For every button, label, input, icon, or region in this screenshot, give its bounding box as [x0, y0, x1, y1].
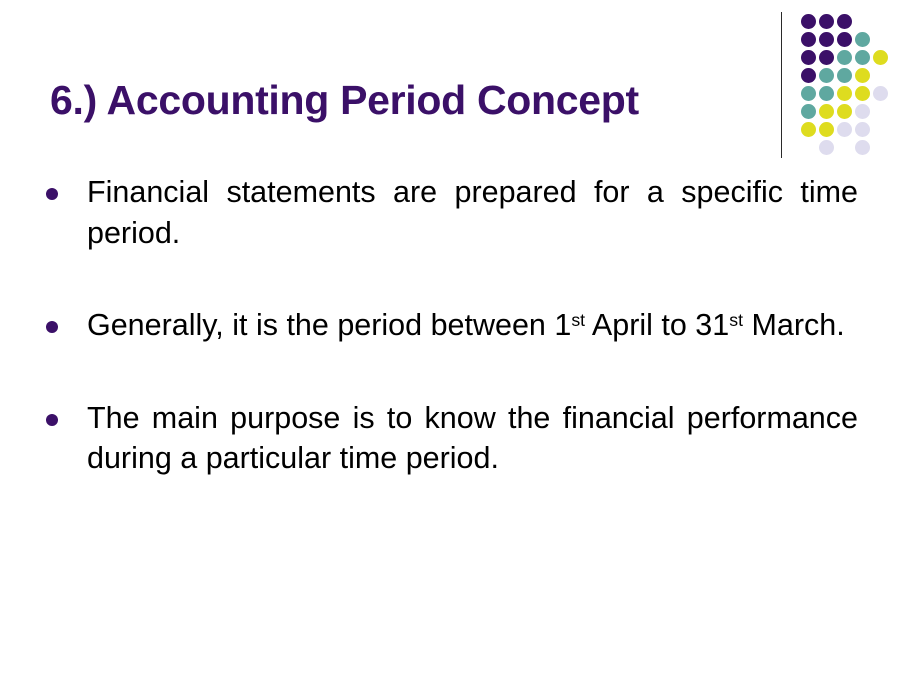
- dot-purple: [819, 32, 834, 47]
- dot-yellow: [819, 104, 834, 119]
- dot-yellow: [873, 50, 888, 65]
- dot-yellow: [855, 86, 870, 101]
- dot-teal: [855, 50, 870, 65]
- dot-lavender: [819, 140, 834, 155]
- list-item: The main purpose is to know the financia…: [46, 398, 858, 479]
- dot-purple: [837, 14, 852, 29]
- bullet-point-icon: [46, 188, 58, 200]
- list-item: Financial statements are prepared for a …: [46, 172, 858, 253]
- bullet-point-icon: [46, 414, 58, 426]
- dot-teal: [855, 32, 870, 47]
- decorative-dot-grid-motif: [770, 0, 900, 170]
- dot-teal: [801, 86, 816, 101]
- ordinal-suffix: st: [729, 310, 743, 330]
- dot-yellow: [855, 68, 870, 83]
- dot-lavender: [873, 86, 888, 101]
- ordinal-suffix: st: [571, 310, 585, 330]
- dot-yellow: [837, 86, 852, 101]
- dot-yellow: [819, 122, 834, 137]
- page-title: 6.) Accounting Period Concept: [50, 78, 770, 124]
- list-item: Generally, it is the period between 1st …: [46, 305, 858, 346]
- slide: 6.) Accounting Period Concept Financial …: [0, 0, 900, 675]
- dot-lavender: [837, 122, 852, 137]
- dot-teal: [837, 68, 852, 83]
- dot-purple: [819, 14, 834, 29]
- dot-purple: [837, 32, 852, 47]
- dot-teal: [819, 86, 834, 101]
- dot-lavender: [855, 140, 870, 155]
- dot-yellow: [801, 122, 816, 137]
- bullet-list: Financial statements are prepared for a …: [46, 172, 858, 479]
- list-item-text: The main purpose is to know the financia…: [87, 398, 858, 479]
- dot-teal: [819, 68, 834, 83]
- list-item-text: Generally, it is the period between 1st …: [87, 305, 858, 346]
- bullet-point-icon: [46, 321, 58, 333]
- dot-purple: [801, 68, 816, 83]
- dot-purple: [801, 14, 816, 29]
- dot-purple: [819, 50, 834, 65]
- list-item-text: Financial statements are prepared for a …: [87, 172, 858, 253]
- dot-purple: [801, 32, 816, 47]
- dot-lavender: [855, 104, 870, 119]
- dot-grid: [801, 14, 896, 159]
- dot-teal: [837, 50, 852, 65]
- vertical-rule-divider: [781, 12, 782, 158]
- dot-purple: [801, 50, 816, 65]
- dot-yellow: [837, 104, 852, 119]
- dot-lavender: [855, 122, 870, 137]
- dot-teal: [801, 104, 816, 119]
